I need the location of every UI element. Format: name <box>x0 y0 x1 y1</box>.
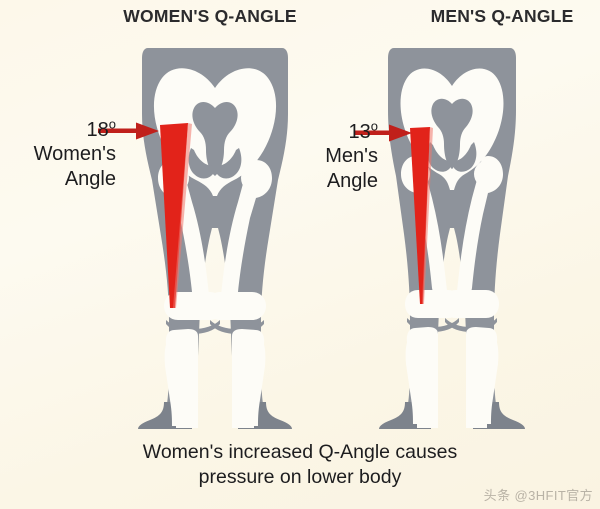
caption-line-1: Women's increased Q-Angle causes <box>0 440 600 465</box>
angle-value-women-line: 18o <box>4 118 116 142</box>
skeleton-svg-women <box>130 40 300 430</box>
knee-right-women <box>208 292 266 320</box>
callout-men-label-line1: Men's <box>268 144 378 168</box>
skeleton-figure-women <box>130 40 300 435</box>
skeleton-figure-men <box>372 40 532 435</box>
degree-symbol-women: o <box>109 116 116 131</box>
angle-value-women: 18 <box>87 119 109 141</box>
skeleton-svg-men <box>372 40 532 430</box>
callout-women-angle: 18o Women's Angle <box>4 118 116 191</box>
angle-value-men-line: 13o <box>268 120 378 144</box>
callout-men-angle: 13o Men's Angle <box>268 120 378 193</box>
knee-right-men <box>444 290 499 318</box>
femoral-head-right-men <box>474 160 502 188</box>
femoral-head-right-women <box>241 163 271 193</box>
callout-men-label-line2: Angle <box>268 169 378 193</box>
angle-value-men: 13 <box>349 121 371 143</box>
panel-title-men: MEN'S Q-ANGLE <box>292 6 600 27</box>
callout-women-label-line2: Angle <box>4 167 116 191</box>
q-angle-diagram: WOMEN'S Q-ANGLE MEN'S Q-ANGLE <box>0 0 600 509</box>
callout-women-label-line1: Women's <box>4 142 116 166</box>
watermark: 头条 @3HFIT官方 <box>484 485 593 504</box>
arrow-head-women <box>136 123 159 140</box>
arrow-head-men <box>389 125 412 142</box>
degree-symbol-men: o <box>371 118 378 133</box>
diagram-caption: Women's increased Q-Angle causes pressur… <box>0 440 600 491</box>
